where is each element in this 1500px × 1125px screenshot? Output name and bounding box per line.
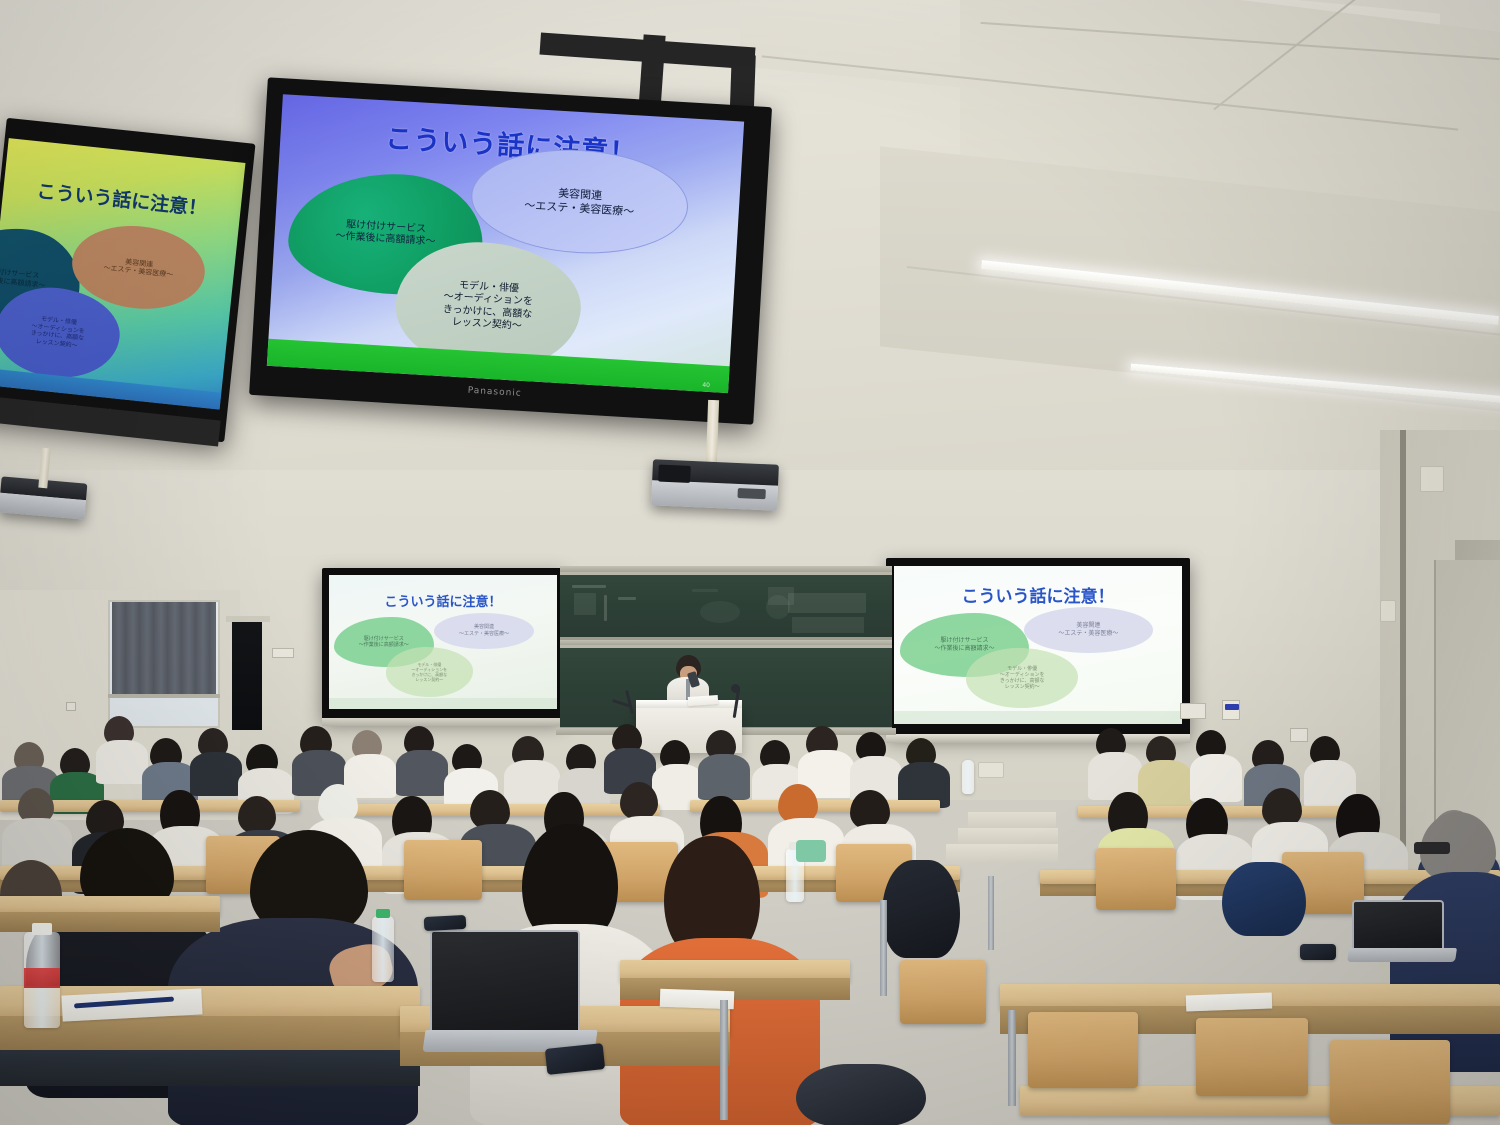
wall-outlet [66,702,76,711]
notebook[interactable] [1186,993,1273,1012]
lecture-hall-photo: こういう話に注意！ 駆け付けサービス～作業後に高額請求～ 美容関連～エステ・美容… [0,0,1500,1125]
desk-leg [720,1000,728,1120]
chair [1028,1012,1138,1088]
doorway [232,622,262,730]
av-control-panel[interactable] [1222,700,1240,720]
water-bottle[interactable] [962,760,974,794]
projector-pole [706,400,719,464]
slide-center-tv: こういう話に注意！ 駆け付けサービス～作業後に高額請求～ 美容関連～エステ・美容… [267,94,744,393]
projector-lens [737,488,765,499]
backpack [882,860,960,958]
wall-box [978,762,1004,778]
chair [404,840,482,900]
light-switch-panel[interactable] [1180,703,1206,719]
aisle-step [958,828,1058,844]
chair [1330,1040,1450,1124]
student-head [664,836,760,954]
desk-leg [1008,1010,1016,1106]
slide-bubble-beauty: 美容関連～エステ・美容医療～ [434,613,534,649]
aisle-step [946,844,1058,862]
ceiling-monitor-center: こういう話に注意！ 駆け付けサービス～作業後に高額請求～ 美容関連～エステ・美容… [249,77,772,426]
slide-title: こういう話に注意！ [2,173,242,225]
desk-leg [880,900,887,996]
curtain [112,602,216,698]
wall-vent [1380,600,1396,622]
slide-bubble-model: モデル・俳優～オーディションを きっかけに、高額なレッスン契約～ [386,647,473,697]
projector-vent [658,465,691,483]
slide-projected-left: こういう話に注意！ 駆け付けサービス～作業後に高額請求～ 美容関連～エステ・美容… [329,575,557,709]
chair [1196,1018,1308,1096]
eyeglasses [1414,842,1450,854]
chair [900,960,986,1024]
slide-page-number: 40 [702,382,710,389]
smartphone[interactable] [1300,944,1336,960]
screen-bottom-bar-right [886,734,1190,743]
microphone-head [731,684,740,693]
door-sign [272,648,294,658]
water-bottle[interactable] [372,916,394,982]
window-mullion [108,694,220,698]
screen-bottom-bar-left [322,718,564,726]
slide-bubble-model: モデル・俳優～オーディションを きっかけに、高額なレッスン契約～ [966,648,1078,708]
water-bottle[interactable] [24,932,60,1028]
door-header [226,616,270,622]
desk-near-right-front [620,978,850,1000]
smartphone[interactable] [424,915,467,931]
chair [1096,848,1176,910]
laptop[interactable] [1348,900,1452,962]
desk-leg [988,876,994,950]
desk-modesty-panel [0,1050,420,1086]
projection-screen-right: こういう話に注意！ 駆け付けサービス～作業後に高額請求～ 美容関連～エステ・美容… [886,558,1190,736]
pouch [796,840,826,862]
aisle-step [968,812,1056,828]
backpack [1222,862,1306,936]
chalkboard-upper [560,572,892,640]
wall-switch[interactable] [1290,728,1308,742]
ceiling-projector [651,459,779,510]
control-panel-display [1225,704,1239,710]
slide-bubble-beauty: 美容関連～エステ・美容医療～ [1024,607,1154,653]
laptop[interactable] [424,930,592,1056]
student-head [522,824,618,938]
bottle-label [24,968,60,988]
backpack [796,1064,926,1125]
slide-projected-right: こういう話に注意！ 駆け付けサービス～作業後に高額請求～ 美容関連～エステ・美容… [894,566,1182,724]
slide-title: こういう話に注意！ [329,591,557,610]
projection-screen-left: こういう話に注意！ 駆け付けサービス～作業後に高額請求～ 美容関連～エステ・美容… [322,568,564,720]
slide-title: こういう話に注意！ [894,582,1182,607]
slide-left-tv: こういう話に注意！ 駆け付けサービス～作業後に高額請求～ 美容関連～エステ・美容… [0,138,245,410]
wall-speaker [1420,466,1444,492]
